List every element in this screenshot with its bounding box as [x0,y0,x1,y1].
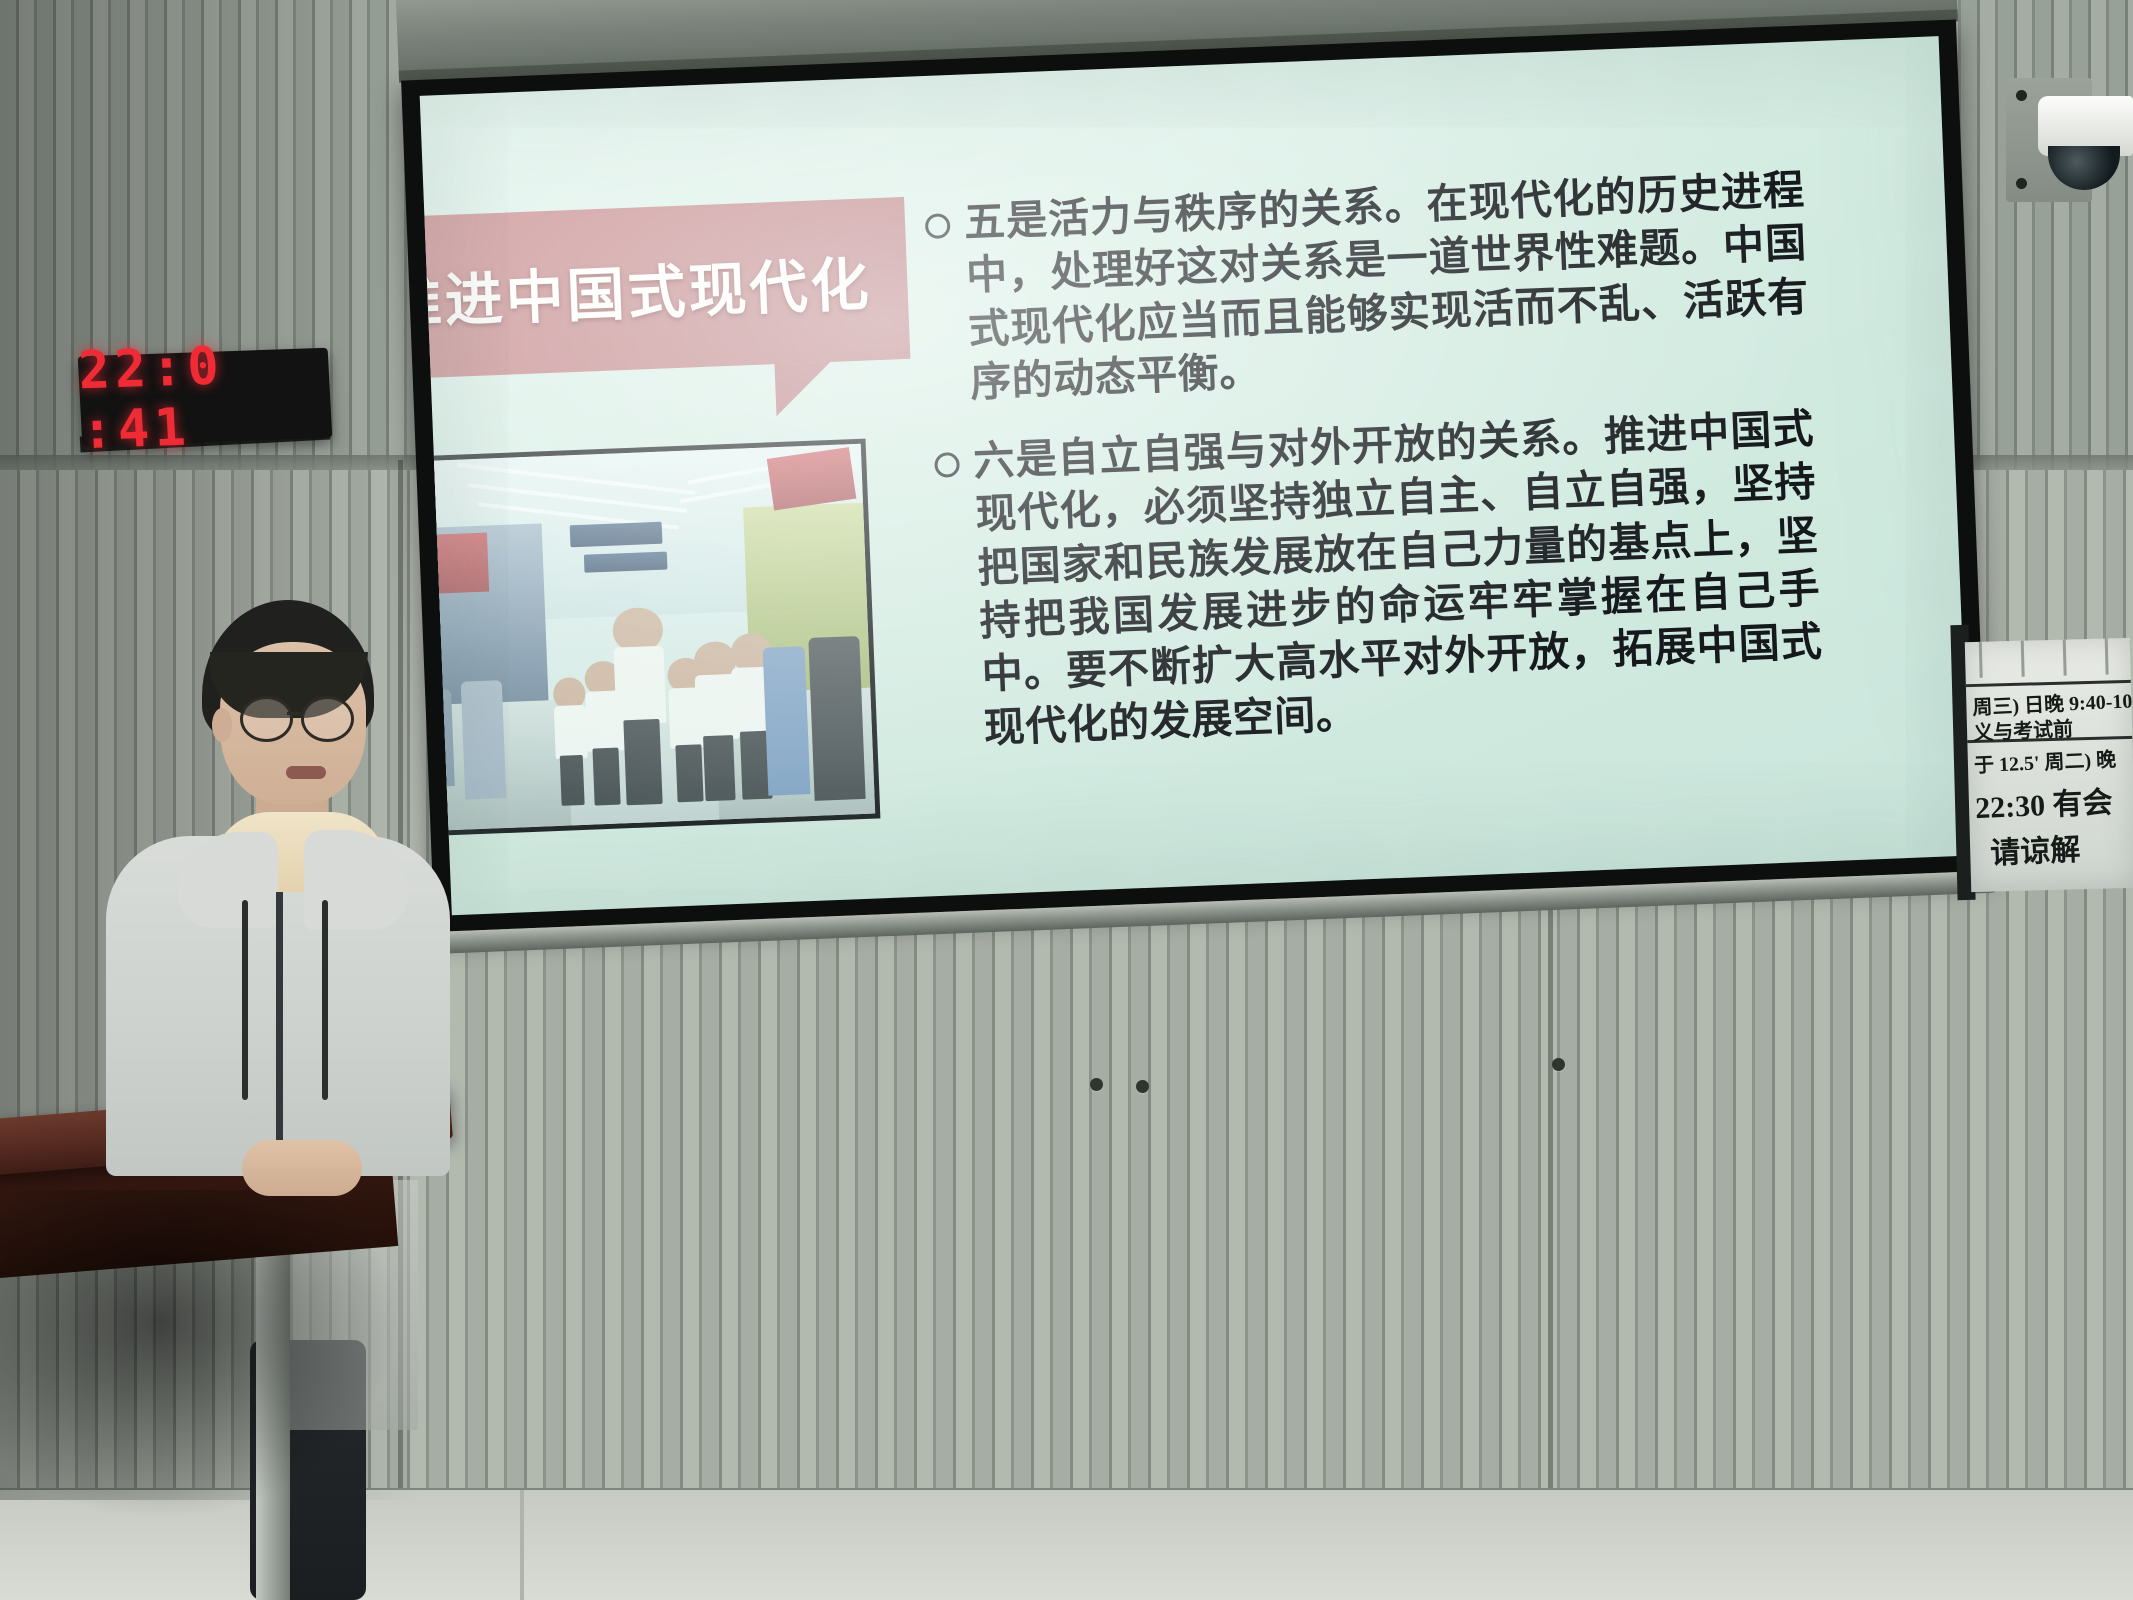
photo-person-legs [623,719,663,805]
photo-red-banner [432,533,489,594]
whiteboard-tick [2105,638,2109,674]
digital-wall-clock: 22:0 :41 [78,348,333,447]
hoodie-drawstring [322,900,328,1100]
projection-surface: 推进中国式现代化 [420,36,1971,915]
glasses-bridge [287,712,301,715]
photo-bystander [763,646,810,796]
wall-screw [1136,1080,1149,1093]
photo-bystander [460,680,506,800]
whiteboard-line: 于 12.5' 周二) 晚 [1973,743,2116,778]
slide-title-banner: 推进中国式现代化 [420,197,911,381]
whiteboard-tick [1979,642,1983,678]
whiteboard-line: 22:30 有会 [1974,777,2113,827]
glasses-lens-right [301,696,354,742]
wall-screw [1090,1078,1103,1091]
slide-bullet-list: 五是活力与秩序的关系。在现代化的历史进程中，处理好这对关系是一道世界性难题。中国… [924,164,1826,783]
bullet-marker-icon [934,452,960,478]
whiteboard-line: 请谅解 [1989,824,2081,872]
bullet-text: 五是活力与秩序的关系。在现代化的历史进程中，处理好这对关系是一道世界性难题。中国… [963,164,1812,410]
photo-person-shirt [553,705,587,759]
clock-display: 22:0 :41 [77,333,333,462]
student-mouth [286,766,326,779]
photo-person-legs [560,755,585,806]
photo-hanging-sign [584,551,667,573]
classroom-scene: 22:0 :41 推进中国式现代化 [0,0,2133,1600]
student-ear [212,708,232,742]
bullet-text: 六是自立自强与对外开放的关系。推进中国式现代化，必须坚持独立自主、自立自强，坚持… [972,403,1825,756]
photo-hanging-sign [569,522,662,548]
photo-bystander [809,636,866,801]
camera-bolt [2016,90,2027,101]
whiteboard-line: 义与考试前 [1972,713,2073,746]
whiteboard-tick [2021,641,2025,677]
wall-screw [1552,1058,1565,1071]
slide-bullet-item: 六是自立自强与对外开放的关系。推进中国式现代化，必须坚持独立自主、自立自强，坚持… [933,403,1825,757]
student-glasses-icon [240,696,360,736]
lectern-leg [256,1250,290,1600]
hoodie-zipper [276,892,283,1160]
photo-lead-official [612,607,670,801]
photo-official [552,677,589,804]
projector-screen-assembly: 推进中国式现代化 [516,0,2005,1019]
slide-photo [420,439,881,837]
hoodie-drawstring [242,900,248,1100]
slide-bullet-item: 五是活力与秩序的关系。在现代化的历史进程中，处理好这对关系是一道世界性难题。中国… [924,164,1812,412]
whiteboard: 周三) 日晚 9:40-10 义与考试前 于 12.5' 周二) 晚 22:30… [1965,638,2133,892]
photo-person-shirt [613,646,667,725]
camera-bolt [2016,178,2027,189]
slide-title: 推进中国式现代化 [420,237,873,340]
bullet-marker-icon [925,213,951,239]
floor-seam [520,1490,524,1600]
presentation-slide: 推进中国式现代化 [420,132,1875,915]
presenting-student [90,600,460,1160]
student-hands [242,1140,362,1196]
glasses-lens-left [240,696,293,742]
photo-person-legs [703,735,735,801]
whiteboard-tick [2063,640,2067,676]
